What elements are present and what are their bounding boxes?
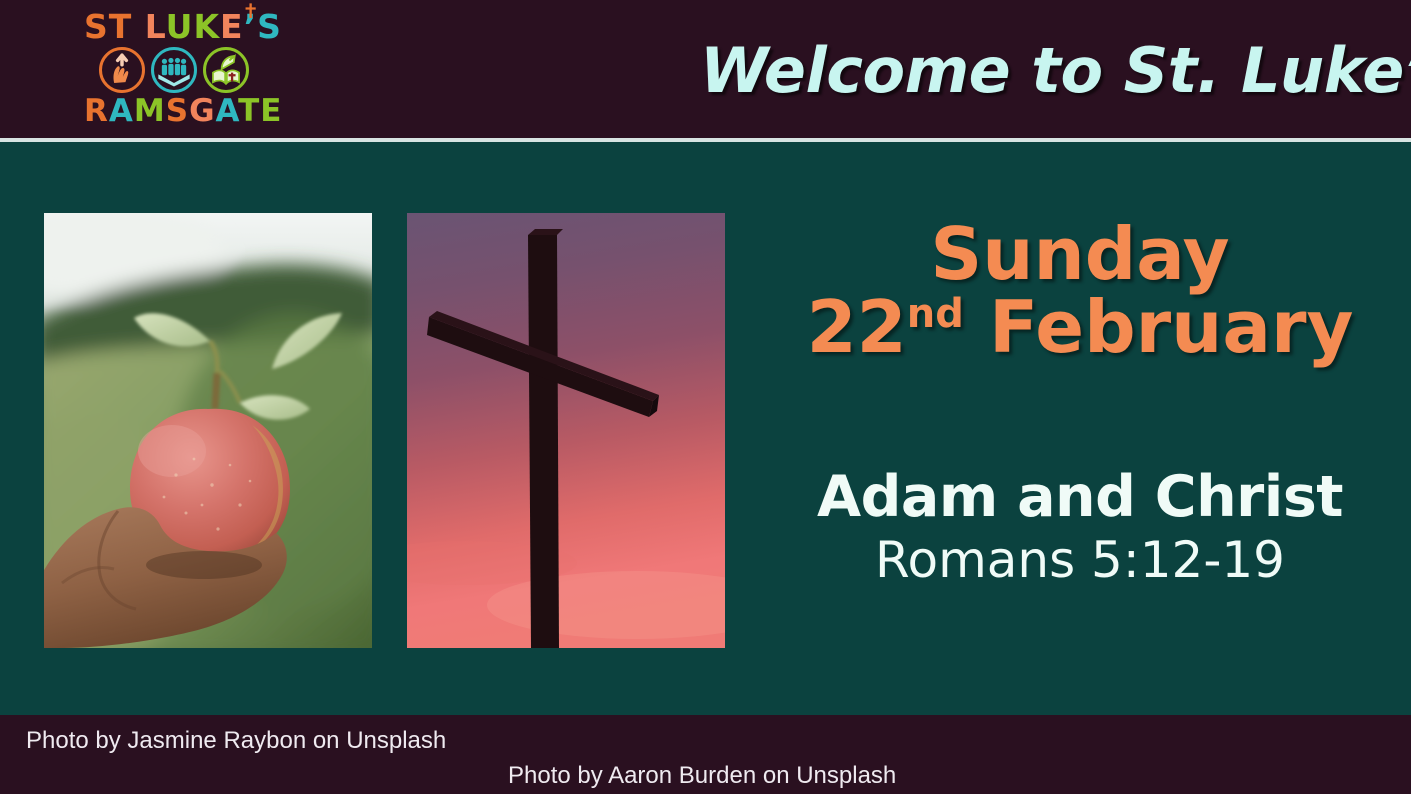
logo-wordmark-line1: ST LUKE’S✝ [84,10,264,43]
apple-in-hand-photo [44,213,372,648]
logo-letter: K [193,7,220,46]
date-month: February [989,285,1353,369]
logo-letter: E [220,7,244,46]
logo-cross-icon: ✝ [242,1,260,21]
logo-letter: M [134,93,166,129]
logo-wordmark-line2: RAMSGATE [84,96,264,127]
logo-letter: A [216,93,239,129]
service-date: Sunday 22nd February [760,218,1400,365]
sermon-title: Adam and Christ [760,468,1400,528]
community-people-icon [151,47,197,93]
logo-letter [132,7,145,46]
logo-letter: L [145,7,166,46]
logo-letter: E [260,93,282,129]
logo-letter: G [189,93,215,129]
sermon-info: Adam and Christ Romans 5:12-19 [760,468,1400,590]
logo-icon-row [84,47,264,93]
logo-letter: U [166,7,194,46]
date-weekday: Sunday [760,218,1400,291]
logo-letter: T [109,7,133,46]
presentation-slide: ST LUKE’S✝ [0,0,1411,794]
logo-letter: A [109,93,134,129]
photo-credit-right: Photo by Aaron Burden on Unsplash [508,762,896,790]
logo-letter: R [84,93,109,129]
date-day-number: 22 [807,285,907,369]
page-title: Welcome to St. Luke’s [700,34,1380,107]
logo-letter: T [238,93,260,129]
logo-letter: S [84,7,109,46]
logo-letter: S [257,7,282,46]
open-bible-icon [203,47,249,93]
photo-credit-left: Photo by Jasmine Raybon on Unsplash [26,727,446,755]
date-ordinal-suffix: nd [907,291,964,337]
praying-hands-icon [99,47,145,93]
sermon-bible-reference: Romans 5:12-19 [760,530,1400,590]
date-day-month: 22nd February [760,291,1400,364]
st-lukes-logo: ST LUKE’S✝ [84,8,264,132]
logo-letter: S [166,93,189,129]
cross-at-sunset-photo [407,213,725,648]
